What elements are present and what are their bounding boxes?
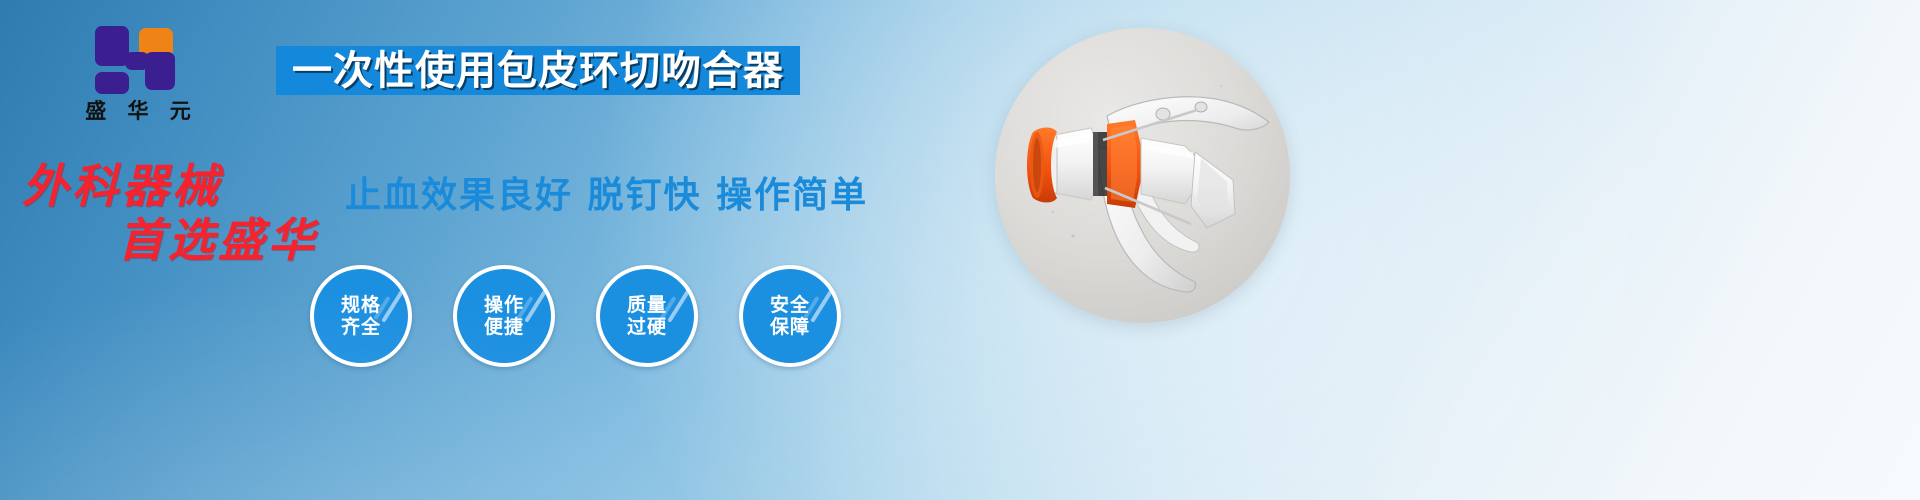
feature-badge-2[interactable]: 操作 便捷 xyxy=(453,265,555,367)
feature-badge-label: 过硬 xyxy=(627,316,667,338)
product-photo xyxy=(995,28,1290,323)
feature-badge-label: 保障 xyxy=(770,316,810,338)
feature-badge-list: 规格 齐全 操作 便捷 质量 过硬 安全 保障 xyxy=(310,265,841,367)
page-title-text: 一次性使用包皮环切吻合器 xyxy=(292,51,784,91)
feature-badge-label: 操作 xyxy=(484,294,524,316)
feature-badge-label: 规格 xyxy=(341,294,381,316)
circumcision-stapler-photo xyxy=(995,28,1290,323)
feature-badge-label: 齐全 xyxy=(341,316,381,338)
promo-banner: 盛 华 元 外科器械 首选盛华 一次性使用包皮环切吻合器 止血效果良好 脱钉快 … xyxy=(0,0,1920,500)
feature-badge-3[interactable]: 质量 过硬 xyxy=(596,265,698,367)
brand-name: 盛 华 元 xyxy=(58,100,218,123)
feature-badge-label: 便捷 xyxy=(484,316,524,338)
page-title: 一次性使用包皮环切吻合器 xyxy=(276,46,800,95)
feature-badge-label: 安全 xyxy=(770,294,810,316)
brand-logo[interactable]: 盛 华 元 xyxy=(58,26,218,123)
shenghuayuan-logo-icon xyxy=(95,26,181,96)
feature-badge-label: 质量 xyxy=(627,294,667,316)
feature-badge-4[interactable]: 安全 保障 xyxy=(739,265,841,367)
feature-badge-1[interactable]: 规格 齐全 xyxy=(310,265,412,367)
subtitle-text: 止血效果良好 脱钉快 操作简单 xyxy=(345,166,868,218)
slogan-line-2: 首选盛华 xyxy=(118,204,318,270)
